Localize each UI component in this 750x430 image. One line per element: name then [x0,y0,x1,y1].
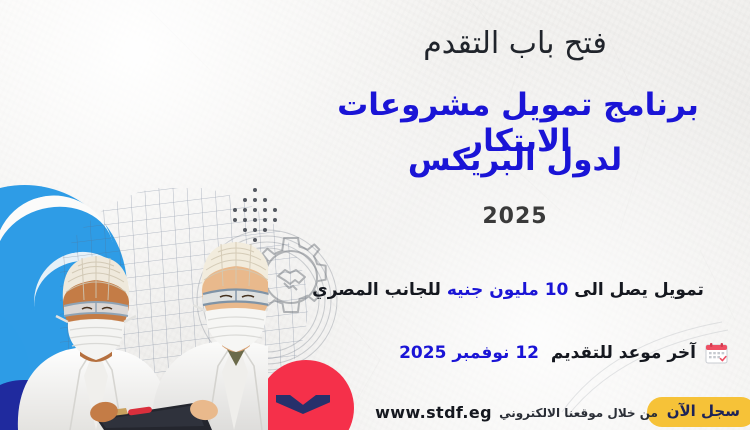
funding-amount: 10 مليون جنيه [447,280,569,300]
headline-line-2: لدول البريكس [280,143,750,179]
promotional-banner: فتح باب التقدم برنامج تمويل مشروعات الاب… [0,0,750,430]
banner-content: فتح باب التقدم برنامج تمويل مشروعات الاب… [280,0,750,430]
program-year: 2025 [280,204,750,229]
funding-suffix: للجانب المصري [312,280,447,300]
funding-amount-text: تمويل يصل الى 10 مليون جنيه للجانب المصر… [280,279,736,301]
cta-subtitle: من خلال موقعنا الالكتروني [499,406,658,420]
deadline-date: 12 نوفمبر 2025 [399,343,539,363]
website-url[interactable]: www.stdf.eg [375,403,492,422]
deadline-text: آخر موعد للتقديم 12 نوفمبر 2025 [399,343,696,363]
funding-prefix: تمويل يصل الى [568,280,703,300]
deadline-row: آخر موعد للتقديم 12 نوفمبر 2025 [399,342,728,364]
register-now-button[interactable]: سجل الآن [647,397,750,427]
calendar-icon [705,342,728,364]
kicker-text: فتح باب التقدم [280,26,750,62]
footer-bar: سجل الآن من خلال موقعنا الالكتروني www.s… [0,392,750,430]
deadline-label: آخر موعد للتقديم [551,343,696,363]
